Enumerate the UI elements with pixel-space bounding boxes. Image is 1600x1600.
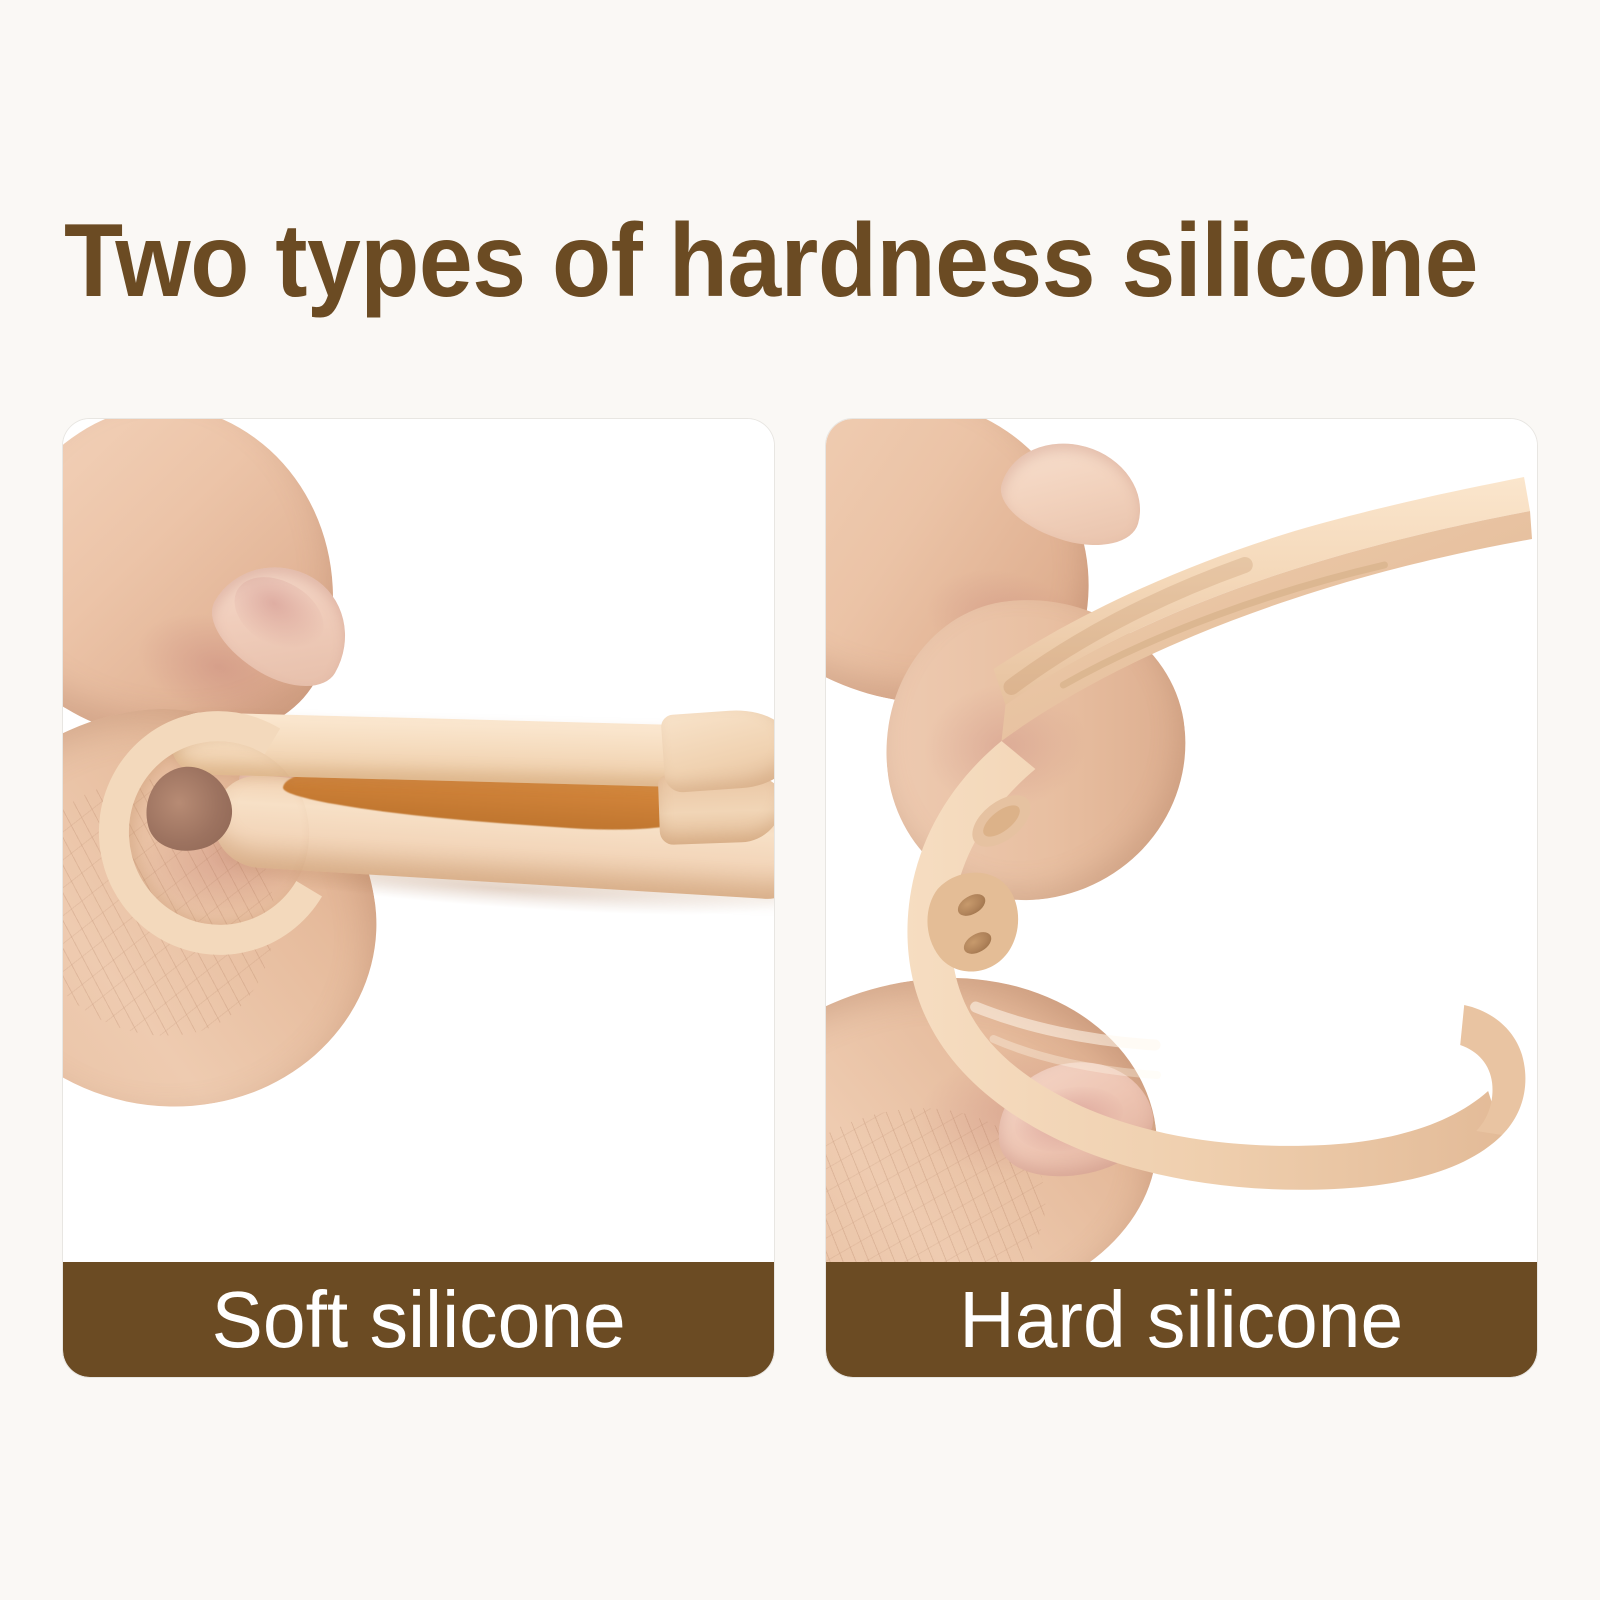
soft-silicone-card[interactable]: Hand pinching a soft flexible silicone i… [62, 418, 775, 1378]
soft-silicone-scene [63, 419, 774, 1264]
page-title: Two types of hardness silicone [64, 206, 1433, 316]
soft-silicone-insole [63, 419, 774, 1264]
hard-silicone-card[interactable]: Hand holding a rigid silicone insole tha… [825, 418, 1538, 1378]
insole-tip-upper [660, 707, 774, 794]
soft-silicone-caption-label: Soft silicone [211, 1280, 625, 1360]
soft-silicone-photo: Hand pinching a soft flexible silicone i… [63, 419, 774, 1264]
soft-silicone-caption-bar: Soft silicone [63, 1262, 774, 1377]
hard-silicone-photo: Hand holding a rigid silicone insole tha… [826, 419, 1537, 1264]
insole-support-block [927, 873, 1018, 972]
infographic-page: Two types of hardness silicone [0, 0, 1600, 1600]
hard-silicone-scene [826, 419, 1537, 1264]
comparison-cards: Hand pinching a soft flexible silicone i… [62, 418, 1538, 1378]
hard-silicone-insole [826, 419, 1537, 1264]
hard-silicone-caption-label: Hard silicone [960, 1280, 1404, 1360]
hard-silicone-caption-bar: Hard silicone [826, 1262, 1537, 1377]
